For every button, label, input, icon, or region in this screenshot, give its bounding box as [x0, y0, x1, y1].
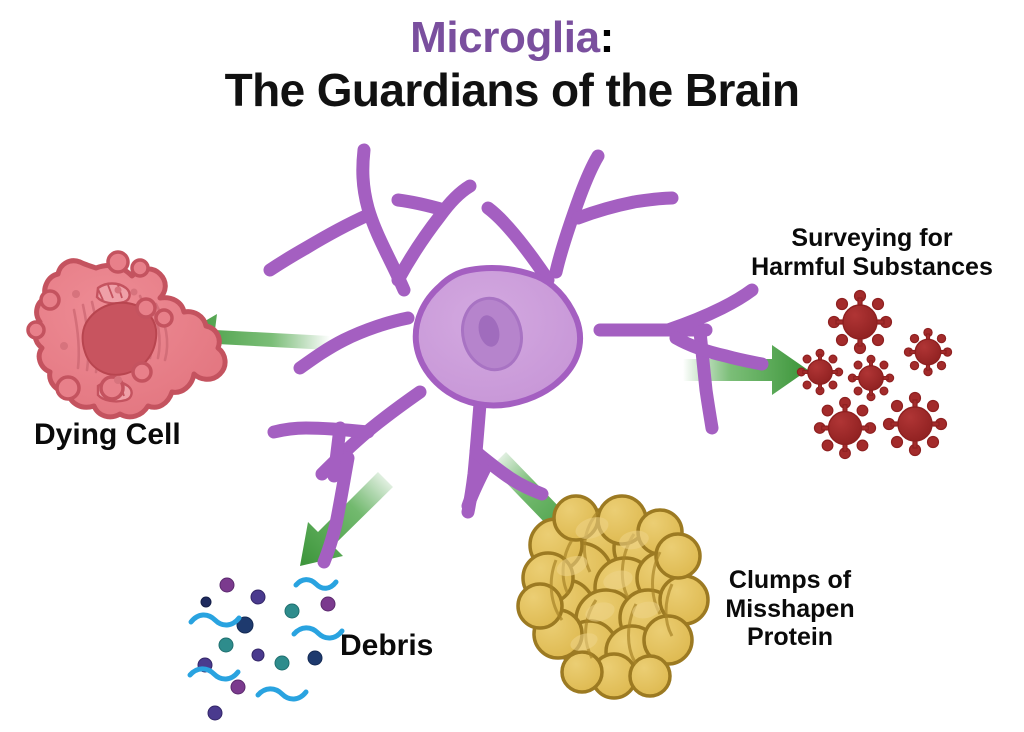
virus-particle-icon	[904, 328, 951, 375]
virus-particle-icon	[814, 397, 875, 458]
debris-dot-icon	[198, 578, 335, 720]
debris-group	[190, 578, 342, 720]
dying-cell-icon	[28, 252, 225, 417]
label-dying-cell: Dying Cell	[34, 418, 181, 452]
label-surveying: Surveying for Harmful Substances	[722, 224, 1022, 281]
label-debris: Debris	[340, 629, 433, 663]
diagram-canvas: Microglia: The Guardians of the Brain	[0, 0, 1024, 732]
virus-particle-icon	[884, 393, 947, 456]
microglia-cell-icon	[270, 150, 762, 562]
debris-wave-icon	[190, 580, 342, 699]
protein-aggregate-icon	[518, 496, 708, 698]
virus-group	[797, 291, 951, 459]
virus-particle-icon	[829, 291, 892, 354]
label-clumps: Clumps of Misshapen Protein	[700, 566, 880, 652]
virus-particle-icon	[848, 355, 893, 400]
virus-particle-icon	[797, 349, 842, 394]
